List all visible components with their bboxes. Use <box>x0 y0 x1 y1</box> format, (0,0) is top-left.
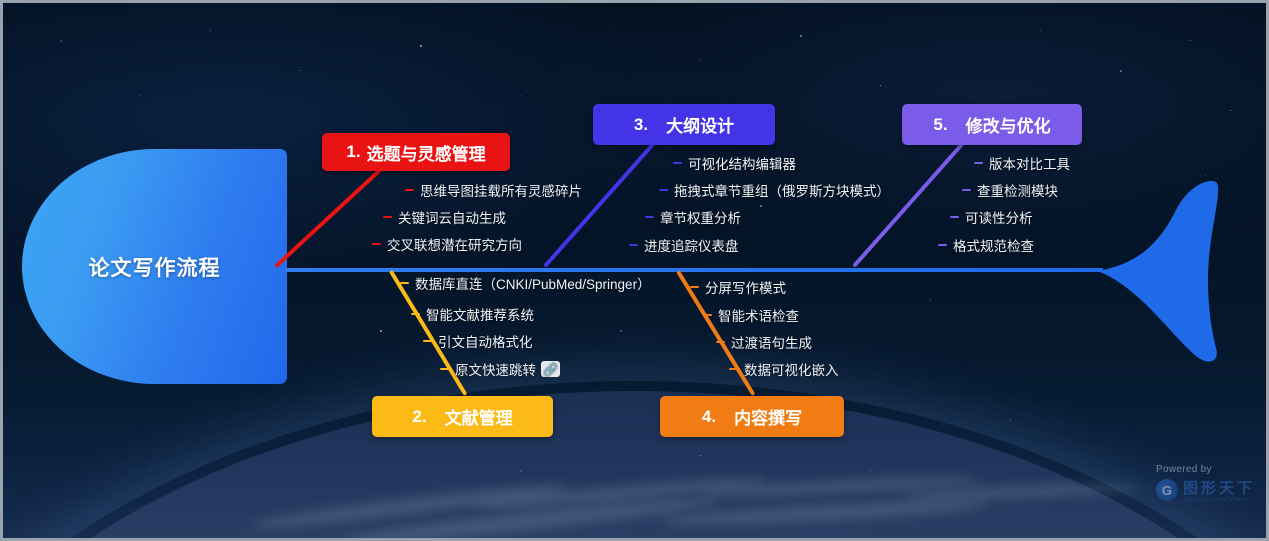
category-4-item[interactable]: 分屏写作模式 <box>690 277 786 297</box>
category-4-item[interactable]: 过渡语句生成 <box>716 332 812 352</box>
diagram-title: 论文写作流程 <box>89 252 221 282</box>
item-tick-icon <box>673 162 682 164</box>
category-box-1[interactable]: 1.选题与灵感管理 <box>322 133 510 171</box>
item-tick-icon <box>383 216 392 218</box>
category-number-2: 2. <box>412 407 426 427</box>
category-box-2[interactable]: 2.文献管理 <box>372 396 553 437</box>
category-4-item[interactable]: 智能术语检查 <box>703 305 799 325</box>
item-label: 过渡语句生成 <box>731 332 812 352</box>
item-label: 拖拽式章节重组（俄罗斯方块模式） <box>674 180 890 200</box>
item-tick-icon <box>962 189 971 191</box>
category-3-item[interactable]: 进度追踪仪表盘 <box>629 235 739 255</box>
category-box-3[interactable]: 3.大纲设计 <box>593 104 775 145</box>
frame-left <box>0 0 3 541</box>
item-label: 数据可视化嵌入 <box>744 359 839 379</box>
watermark-powered-by: Powered by <box>1156 464 1255 475</box>
category-box-4[interactable]: 4.内容撰写 <box>660 396 844 437</box>
category-5-item[interactable]: 版本对比工具 <box>974 153 1070 173</box>
item-tick-icon <box>423 340 432 342</box>
fishbone-tail <box>1096 176 1226 366</box>
item-tick-icon <box>440 368 449 370</box>
category-2-item[interactable]: 原文快速跳转🔗 <box>440 359 560 379</box>
category-3-item[interactable]: 章节权重分析 <box>645 207 741 227</box>
item-tick-icon <box>372 243 381 245</box>
fishbone-spine <box>285 268 1103 272</box>
category-number-4: 4. <box>702 407 716 427</box>
item-label: 章节权重分析 <box>660 207 741 227</box>
brand-logo-icon: G <box>1156 479 1178 501</box>
watermark-brand-sub: AnyGraphAnyWhere <box>1183 497 1255 503</box>
item-label: 格式规范检查 <box>953 235 1034 255</box>
link-icon[interactable]: 🔗 <box>541 361 560 377</box>
item-tick-icon <box>645 216 654 218</box>
item-label: 可读性分析 <box>965 207 1033 227</box>
fishbone-diagram-canvas: 论文写作流程 1.选题与灵感管理2.文献管理3.大纲设计4.内容撰写5.修改与优… <box>0 0 1269 541</box>
frame-top <box>0 0 1269 3</box>
category-1-item[interactable]: 关键词云自动生成 <box>383 207 506 227</box>
category-3-item[interactable]: 拖拽式章节重组（俄罗斯方块模式） <box>659 180 890 200</box>
category-number-5: 5. <box>933 115 947 135</box>
item-tick-icon <box>400 282 409 284</box>
item-tick-icon <box>938 244 947 246</box>
category-box-5[interactable]: 5.修改与优化 <box>902 104 1082 145</box>
item-label: 智能术语检查 <box>718 305 799 325</box>
item-label: 交叉联想潜在研究方向 <box>387 234 522 254</box>
category-5-item[interactable]: 可读性分析 <box>950 207 1033 227</box>
item-tick-icon <box>690 286 699 288</box>
watermark-brand: 图形天下 <box>1183 477 1255 498</box>
category-title-4: 内容撰写 <box>734 404 802 429</box>
fishbone-head[interactable]: 论文写作流程 <box>22 149 287 384</box>
item-label: 版本对比工具 <box>989 153 1070 173</box>
item-tick-icon <box>659 189 668 191</box>
item-tick-icon <box>716 341 725 343</box>
item-label: 关键词云自动生成 <box>398 207 506 227</box>
item-label: 思维导图挂载所有灵感碎片 <box>420 180 582 200</box>
item-tick-icon <box>405 189 414 191</box>
watermark: Powered by G 图形天下 AnyGraphAnyWhere <box>1156 464 1255 503</box>
category-title-3: 大纲设计 <box>666 112 734 137</box>
item-label: 数据库直连（CNKI/PubMed/Springer） <box>415 273 651 293</box>
category-2-item[interactable]: 数据库直连（CNKI/PubMed/Springer） <box>400 273 651 293</box>
item-label: 查重检测模块 <box>977 180 1058 200</box>
category-4-item[interactable]: 数据可视化嵌入 <box>729 359 839 379</box>
item-label: 原文快速跳转 <box>455 359 536 379</box>
category-2-item[interactable]: 引文自动格式化 <box>423 331 533 351</box>
item-label: 进度追踪仪表盘 <box>644 235 739 255</box>
item-label: 引文自动格式化 <box>438 331 533 351</box>
category-title-2: 文献管理 <box>445 404 513 429</box>
item-label: 可视化结构编辑器 <box>688 153 796 173</box>
item-label: 智能文献推荐系统 <box>426 304 534 324</box>
category-2-item[interactable]: 智能文献推荐系统 <box>411 304 534 324</box>
category-5-item[interactable]: 查重检测模块 <box>962 180 1058 200</box>
category-number-3: 3. <box>634 115 648 135</box>
item-tick-icon <box>703 314 712 316</box>
category-number-1: 1. <box>346 142 360 162</box>
category-title-5: 修改与优化 <box>966 112 1051 137</box>
category-1-item[interactable]: 交叉联想潜在研究方向 <box>372 234 522 254</box>
item-label: 分屏写作模式 <box>705 277 786 297</box>
category-1-item[interactable]: 思维导图挂载所有灵感碎片 <box>405 180 582 200</box>
item-tick-icon <box>729 368 738 370</box>
item-tick-icon <box>974 162 983 164</box>
category-title-1: 选题与灵感管理 <box>367 140 486 165</box>
category-5-item[interactable]: 格式规范检查 <box>938 235 1034 255</box>
item-tick-icon <box>950 216 959 218</box>
item-tick-icon <box>411 313 420 315</box>
item-tick-icon <box>629 244 638 246</box>
category-3-item[interactable]: 可视化结构编辑器 <box>673 153 796 173</box>
